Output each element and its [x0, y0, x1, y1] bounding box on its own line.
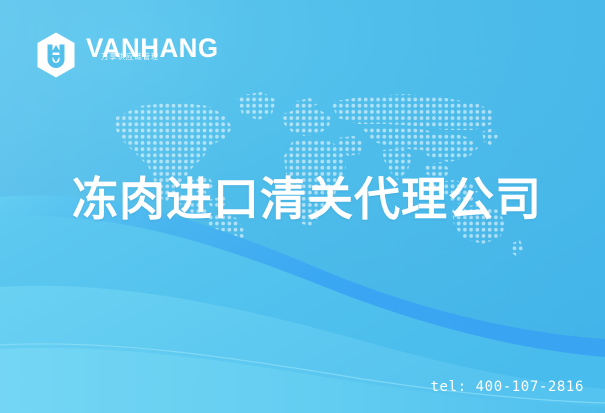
headline-title: 冻肉进口清关代理公司	[72, 172, 542, 226]
promo-banner: VANHANG 万享供应链管理 冻肉进口清关代理公司 tel: 400-107-…	[0, 0, 605, 413]
logo-wordmark-cn: 万享供应链管理	[101, 52, 159, 61]
contact-phone: tel: 400-107-2816	[431, 379, 585, 395]
logo-text-block: VANHANG 万享供应链管理	[86, 33, 224, 77]
brand-logo[interactable]: VANHANG 万享供应链管理	[34, 30, 224, 80]
vanhang-hexagon-icon	[34, 31, 78, 79]
